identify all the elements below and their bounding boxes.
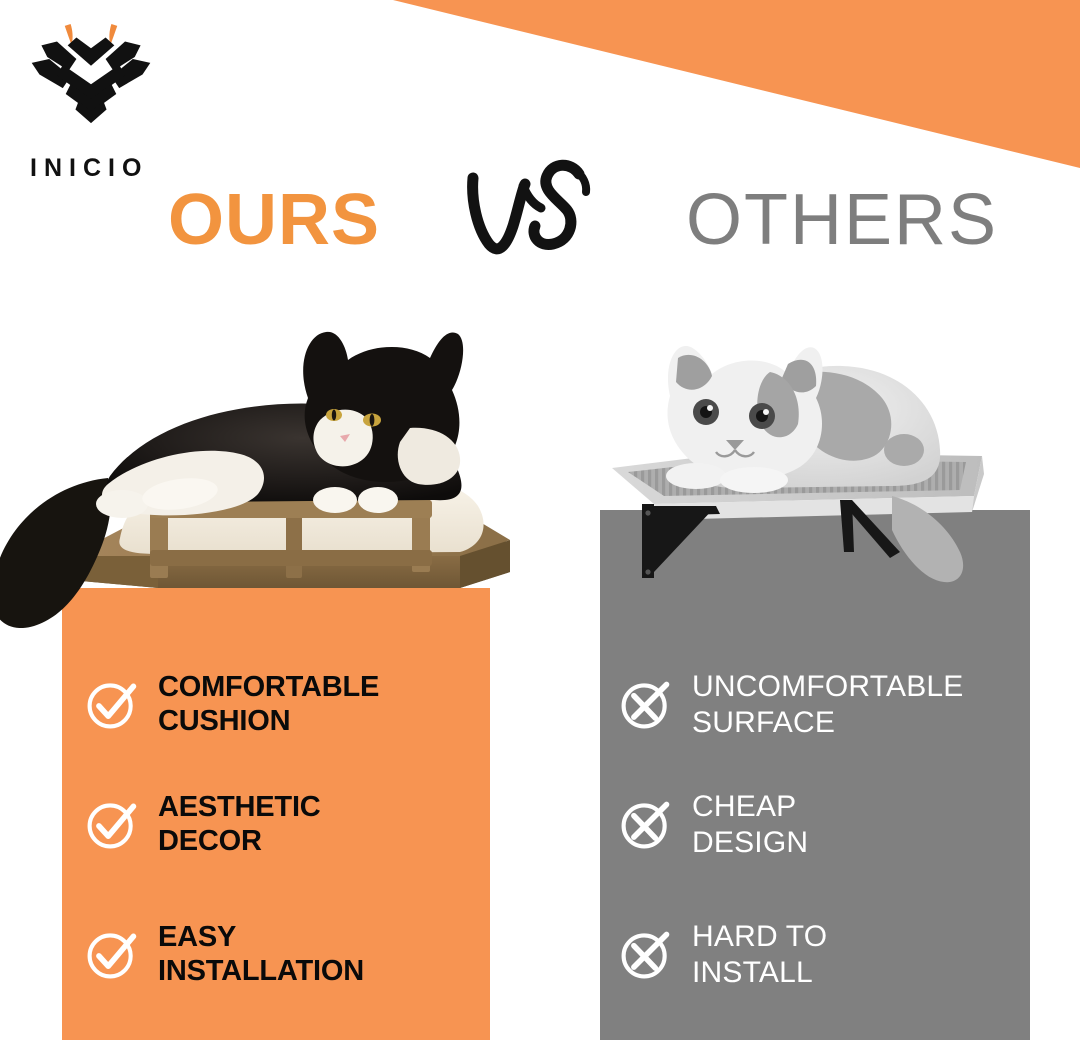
others-product-image bbox=[592, 300, 1032, 620]
drawback-row-uncomfortable-surface[interactable]: UNCOMFORTABLE SURFACE bbox=[600, 648, 1030, 761]
ours-feature-list: COMFORTABLE CUSHION AESTHETIC DECOR EASY… bbox=[62, 648, 490, 1028]
headline-ours: OURS bbox=[168, 172, 380, 268]
drawback-label: CHEAP DESIGN bbox=[692, 789, 808, 859]
feature-row-aesthetic-decor[interactable]: AESTHETIC DECOR bbox=[62, 768, 490, 881]
drawback-label: UNCOMFORTABLE SURFACE bbox=[692, 669, 964, 739]
x-circle-icon bbox=[618, 927, 674, 983]
feature-label: EASY INSTALLATION bbox=[158, 921, 364, 989]
comparison-infographic: INICIO OURS OTHERS bbox=[0, 0, 1080, 1040]
feature-label: AESTHETIC DECOR bbox=[158, 791, 321, 859]
headline-others: OTHERS bbox=[686, 172, 998, 268]
x-circle-icon bbox=[618, 797, 674, 853]
x-circle-icon bbox=[618, 677, 674, 733]
feature-label: COMFORTABLE CUSHION bbox=[158, 671, 379, 739]
drawback-row-hard-to-install[interactable]: HARD TO INSTALL bbox=[600, 888, 1030, 1021]
check-circle-icon bbox=[84, 677, 140, 733]
check-circle-icon bbox=[84, 927, 140, 983]
cat-tail bbox=[0, 478, 111, 628]
ours-product-image bbox=[0, 288, 550, 628]
brand-logo: INICIO bbox=[18, 22, 188, 172]
feature-row-easy-installation[interactable]: EASY INSTALLATION bbox=[62, 888, 490, 1021]
feature-row-comfortable-cushion[interactable]: COMFORTABLE CUSHION bbox=[62, 648, 490, 761]
others-feature-list: UNCOMFORTABLE SURFACE CHEAP DESIGN HARD … bbox=[600, 648, 1030, 1028]
check-circle-icon bbox=[84, 797, 140, 853]
drawback-label: HARD TO INSTALL bbox=[692, 919, 827, 989]
headline-vs-script bbox=[455, 148, 615, 268]
bee-logo-icon bbox=[26, 22, 156, 127]
headline-row: OURS OTHERS bbox=[0, 176, 1080, 272]
drawback-row-cheap-design[interactable]: CHEAP DESIGN bbox=[600, 768, 1030, 881]
